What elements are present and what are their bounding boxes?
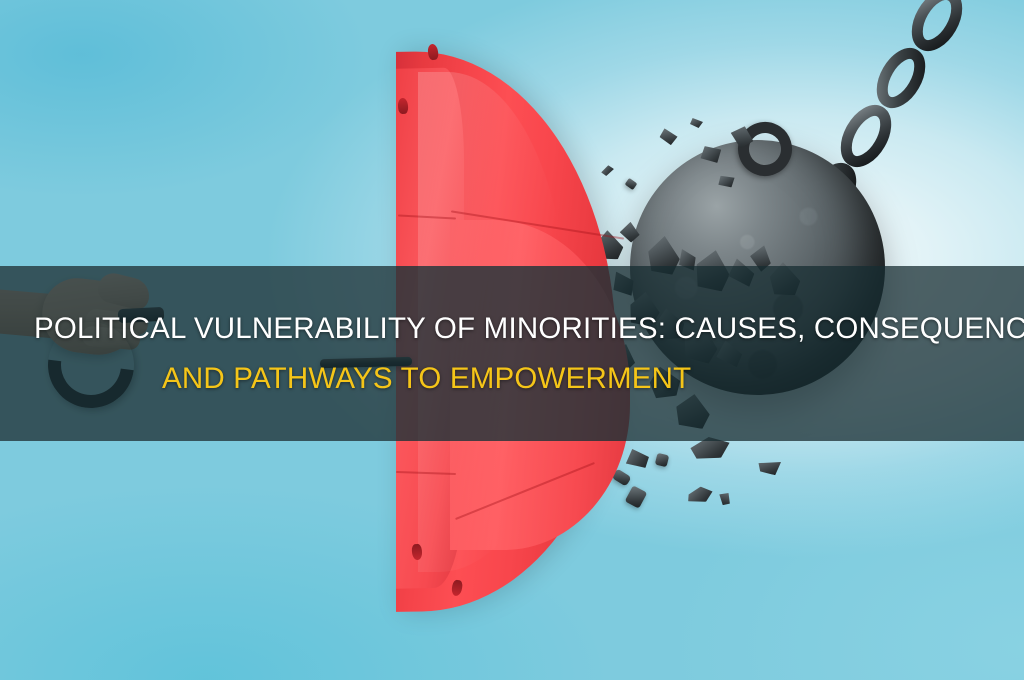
umbrella-tip	[427, 43, 439, 60]
hero-banner: POLITICAL VULNERABILITY OF MINORITIES: C…	[0, 0, 1024, 680]
title-line-1: POLITICAL VULNERABILITY OF MINORITIES: C…	[34, 304, 1004, 354]
title-line-2: AND PATHWAYS TO EMPOWERMENT	[34, 354, 1004, 404]
page-title: POLITICAL VULNERABILITY OF MINORITIES: C…	[0, 266, 1024, 441]
